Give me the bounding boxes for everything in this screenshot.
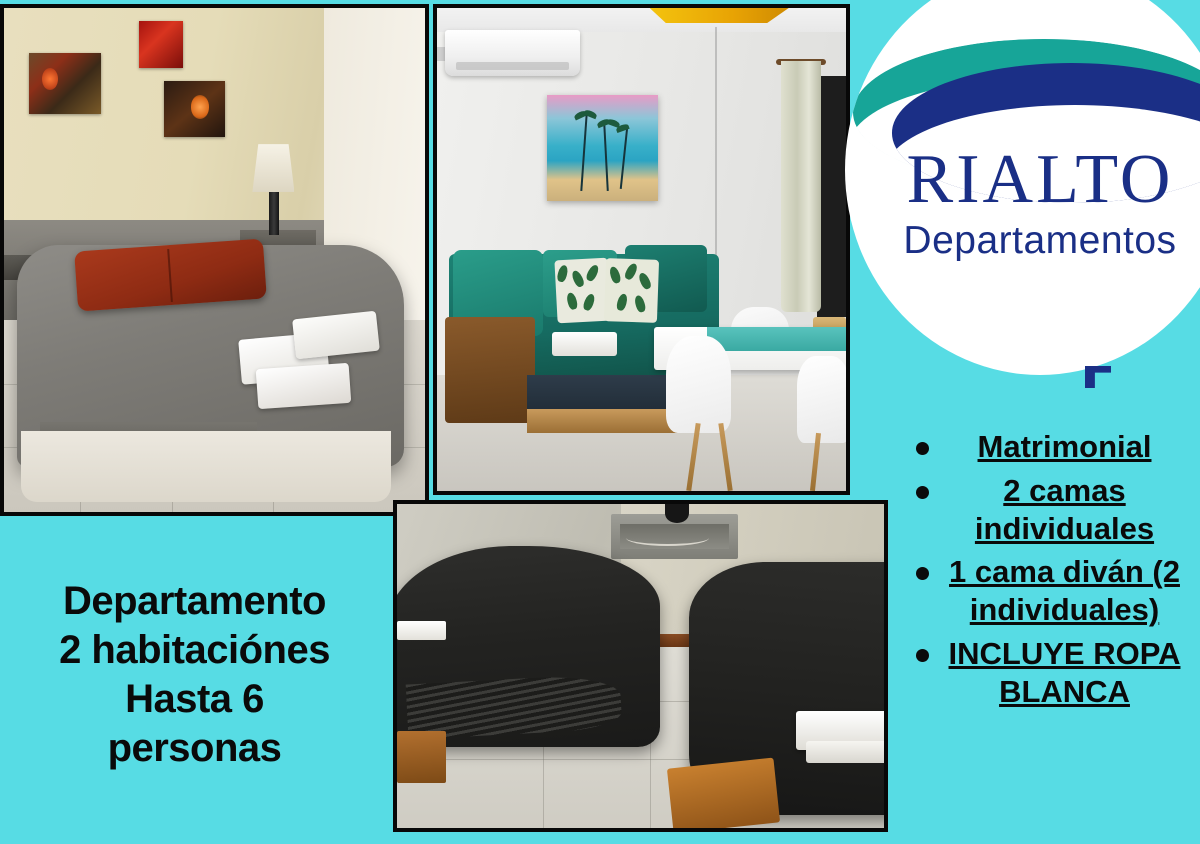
caption-line-2: 2 habitaciónes (59, 626, 330, 675)
table-runner-teal (707, 327, 846, 351)
feature-label: Matrimonial (947, 428, 1190, 466)
dining-chair-white (797, 356, 846, 443)
logo-graphic: RIALTO Departamentos (845, 0, 1200, 375)
bullet-icon (916, 442, 929, 455)
power-cable (626, 530, 709, 546)
feature-item-cama-divan[interactable]: 1 cama diván (2 individuales) (902, 553, 1190, 629)
logo-wordmark: RIALTO (845, 145, 1200, 215)
sofa-wood-frame (445, 317, 535, 423)
curtain (781, 61, 822, 312)
bed-wood-frame (667, 758, 780, 828)
caption-panel: Departamento 2 habitaciónes Hasta 6 pers… (0, 520, 389, 844)
living-dining-scene (437, 8, 846, 491)
bedroom-double-scene (4, 8, 425, 512)
wall-art-abstract-2 (139, 21, 183, 69)
feature-label: INCLUYE ROPA BLANCA (947, 635, 1190, 711)
folded-towel (255, 363, 350, 410)
folded-towel (397, 621, 446, 640)
bullet-icon (916, 649, 929, 662)
wall-art-abstract-3 (164, 81, 225, 136)
lamp-shade (252, 144, 294, 192)
feature-item-camas-individuales[interactable]: 2 camas individuales (902, 472, 1190, 548)
folded-towel (552, 332, 617, 356)
cove-light-yellow (650, 8, 789, 23)
logo-fragment-icon (1085, 366, 1111, 388)
promo-collage: Departamento 2 habitaciónes Hasta 6 pers… (0, 0, 1200, 844)
air-conditioner (445, 30, 580, 76)
feature-label: 1 cama diván (2 individuales) (947, 553, 1190, 629)
logo-subtitle: Departamentos (845, 221, 1200, 260)
bullet-icon (916, 567, 929, 580)
caption-line-3: Hasta 6 (125, 675, 264, 724)
feature-label: 2 camas individuales (947, 472, 1190, 548)
rialto-logo[interactable]: RIALTO Departamentos (845, 0, 1200, 375)
wall-art-abstract-1 (29, 53, 101, 113)
photo-twin-beds[interactable] (393, 500, 888, 832)
window-opening (817, 76, 846, 318)
tropical-pillow (554, 258, 610, 323)
beach-painting (547, 95, 657, 201)
feature-item-matrimonial[interactable]: Matrimonial (902, 428, 1190, 466)
feature-list: Matrimonial 2 camas individuales 1 cama … (888, 400, 1200, 711)
folded-towel (806, 741, 884, 764)
twin-beds-scene (397, 504, 884, 828)
bed-skirt (21, 431, 391, 502)
tropical-pillow (604, 258, 659, 323)
bed-wood-frame (397, 731, 446, 783)
photo-bedroom-double[interactable] (0, 4, 429, 516)
bullet-icon (916, 486, 929, 499)
photo-living-dining[interactable] (433, 4, 850, 495)
caption-line-4: personas (108, 724, 282, 773)
caption-line-1: Departamento (63, 577, 326, 626)
feature-item-ropa-blanca[interactable]: INCLUYE ROPA BLANCA (902, 635, 1190, 711)
features-sidebar: Matrimonial 2 camas individuales 1 cama … (888, 400, 1200, 844)
dining-chair-white (666, 336, 731, 433)
